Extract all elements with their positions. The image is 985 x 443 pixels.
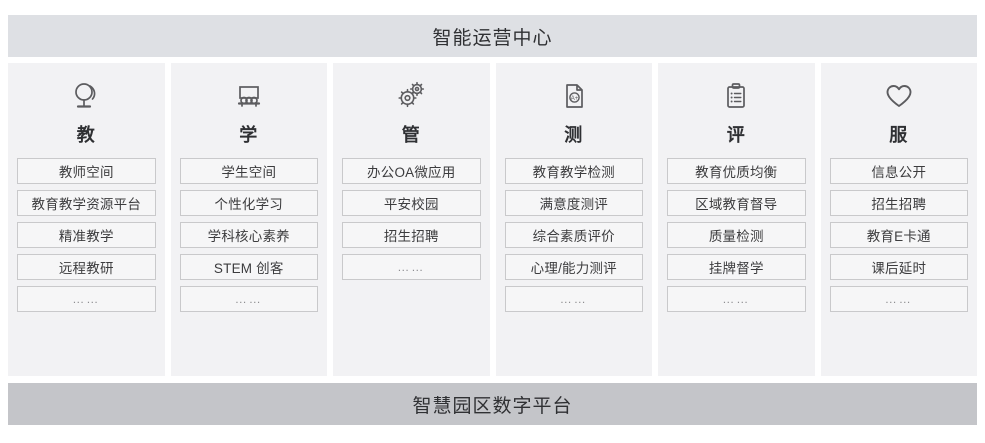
svg-text:A+: A+ <box>570 96 578 102</box>
gears-icon <box>394 77 428 115</box>
chip-list: 信息公开 招生招聘 教育E卡通 课后延时 …… <box>830 158 969 312</box>
chip-item[interactable]: 教师空间 <box>17 158 156 184</box>
chip-item[interactable]: 平安校园 <box>342 190 481 216</box>
chip-item[interactable]: 教育教学资源平台 <box>17 190 156 216</box>
chip-item[interactable]: STEM 创客 <box>180 254 319 280</box>
chip-item[interactable]: 挂牌督学 <box>667 254 806 280</box>
bottom-banner-label: 智慧园区数字平台 <box>412 391 572 418</box>
column-ce[interactable]: A+ 测 教育教学检测 满意度测评 综合素质评价 心理/能力测评 …… <box>496 63 653 376</box>
chip-item-more[interactable]: …… <box>830 286 969 312</box>
chip-item[interactable]: 教育E卡通 <box>830 222 969 248</box>
chip-item-more[interactable]: …… <box>667 286 806 312</box>
clipboard-icon <box>719 77 753 115</box>
chip-item[interactable]: 招生招聘 <box>830 190 969 216</box>
chip-item[interactable]: 满意度测评 <box>505 190 644 216</box>
chip-item[interactable]: 心理/能力测评 <box>505 254 644 280</box>
chip-item-more[interactable]: …… <box>17 286 156 312</box>
chip-item[interactable]: 个性化学习 <box>180 190 319 216</box>
heart-icon <box>882 77 916 115</box>
column-guan[interactable]: 管 办公OA微应用 平安校园 招生招聘 …… <box>333 63 490 376</box>
chip-item[interactable]: 综合素质评价 <box>505 222 644 248</box>
chip-item[interactable]: 区域教育督导 <box>667 190 806 216</box>
chip-item[interactable]: 精准教学 <box>17 222 156 248</box>
chip-item-more[interactable]: …… <box>342 254 481 280</box>
chip-item[interactable]: 教育教学检测 <box>505 158 644 184</box>
chip-item[interactable]: 课后延时 <box>830 254 969 280</box>
chip-item[interactable]: 招生招聘 <box>342 222 481 248</box>
chip-list: 教师空间 教育教学资源平台 精准教学 远程教研 …… <box>17 158 156 312</box>
column-fu[interactable]: 服 信息公开 招生招聘 教育E卡通 课后延时 …… <box>821 63 978 376</box>
column-jiao[interactable]: 教 教师空间 教育教学资源平台 精准教学 远程教研 …… <box>8 63 165 376</box>
grade-document-icon: A+ <box>557 77 591 115</box>
chip-item[interactable]: 信息公开 <box>830 158 969 184</box>
column-ping[interactable]: 评 教育优质均衡 区域教育督导 质量检测 挂牌督学 …… <box>658 63 815 376</box>
chip-list: 教育优质均衡 区域教育督导 质量检测 挂牌督学 …… <box>667 158 806 312</box>
column-title: 评 <box>727 121 746 147</box>
column-xue[interactable]: 学 学生空间 个性化学习 学科核心素养 STEM 创客 …… <box>171 63 328 376</box>
columns-container: 教 教师空间 教育教学资源平台 精准教学 远程教研 …… <box>8 63 977 376</box>
chip-item[interactable]: 教育优质均衡 <box>667 158 806 184</box>
column-title: 学 <box>239 121 258 147</box>
globe-icon <box>69 77 103 115</box>
chip-item[interactable]: 远程教研 <box>17 254 156 280</box>
chip-item-more[interactable]: …… <box>180 286 319 312</box>
column-title: 管 <box>402 121 421 147</box>
chip-list: 学生空间 个性化学习 学科核心素养 STEM 创客 …… <box>180 158 319 312</box>
chip-item[interactable]: 质量检测 <box>667 222 806 248</box>
top-banner-label: 智能运营中心 <box>432 23 552 50</box>
operation-center-diagram: 智能运营中心 教 教师空间 教育教学资源平台 精准教学 远程教研 …… <box>0 0 985 443</box>
chip-list: 教育教学检测 满意度测评 综合素质评价 心理/能力测评 …… <box>505 158 644 312</box>
chip-list: 办公OA微应用 平安校园 招生招聘 …… <box>342 158 481 280</box>
chip-item-more[interactable]: …… <box>505 286 644 312</box>
chip-item[interactable]: 学生空间 <box>180 158 319 184</box>
column-title: 教 <box>77 121 96 147</box>
classroom-icon <box>232 77 266 115</box>
bottom-banner: 智慧园区数字平台 <box>8 383 977 425</box>
chip-item[interactable]: 办公OA微应用 <box>342 158 481 184</box>
column-title: 测 <box>564 121 583 147</box>
chip-item[interactable]: 学科核心素养 <box>180 222 319 248</box>
top-banner: 智能运营中心 <box>8 15 977 57</box>
column-title: 服 <box>889 121 908 147</box>
